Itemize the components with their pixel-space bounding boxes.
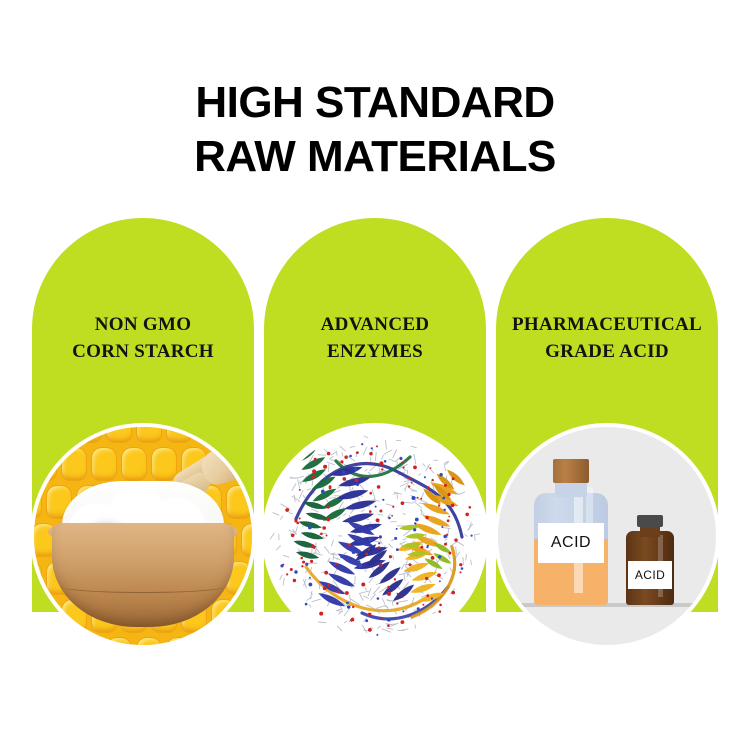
corn-kernel [34, 599, 57, 633]
card-label-advanced-enzymes: ADVANCED ENZYMES [264, 311, 486, 365]
corn-kernel [166, 637, 192, 645]
enzyme-protein-structure-photo [266, 427, 484, 645]
acid-bottles-photo: ACID ACID [498, 427, 716, 645]
corn-kernel [151, 447, 177, 481]
card-non-gmo-corn-starch[interactable]: NON GMO CORN STARCH [32, 218, 254, 612]
corn-starch-bowl-photo [34, 427, 252, 645]
card-label-line-1: NON GMO [32, 311, 254, 338]
corn-kernel [34, 447, 57, 481]
corn-kernel [106, 427, 132, 443]
small-bottle-label: ACID [628, 561, 672, 589]
corn-kernel [121, 447, 147, 481]
card-label-line-2: ENZYMES [264, 338, 486, 365]
corn-kernel [34, 427, 42, 443]
corn-kernel [241, 447, 252, 481]
corn-kernel [46, 427, 72, 443]
card-advanced-enzymes[interactable]: ADVANCED ENZYMES [264, 218, 486, 612]
corn-kernel [136, 427, 162, 443]
card-label-non-gmo-corn-starch: NON GMO CORN STARCH [32, 311, 254, 365]
large-bottle-label: ACID [538, 523, 604, 563]
corn-kernel [34, 561, 42, 595]
card-pharmaceutical-grade-acid[interactable]: PHARMACEUTICAL GRADE ACID ACID [496, 218, 718, 612]
photo-ring [30, 423, 256, 649]
corn-kernel [211, 599, 237, 633]
corn-kernel [91, 447, 117, 481]
corn-kernel [34, 485, 42, 519]
corn-kernel [61, 447, 87, 481]
large-bottle-cork [553, 459, 589, 483]
corn-kernel [226, 485, 252, 519]
card-label-pharmaceutical-grade-acid: PHARMACEUTICAL GRADE ACID [496, 311, 718, 365]
corn-kernel [34, 637, 42, 645]
corn-kernel [166, 427, 192, 443]
corn-kernel [226, 427, 252, 443]
card-label-line-2: GRADE ACID [496, 338, 718, 365]
protein-ribbon-svg [266, 427, 484, 645]
corn-kernel [226, 637, 252, 645]
corn-kernel [46, 637, 72, 645]
material-cards: NON GMO CORN STARCH [0, 0, 750, 740]
corn-kernel [106, 637, 132, 645]
poster-canvas: HIGH STANDARD RAW MATERIALS NON GMO CORN… [0, 0, 750, 740]
protein-ribbon-model [266, 427, 484, 645]
corn-kernel [241, 523, 252, 557]
card-label-line-1: PHARMACEUTICAL [496, 311, 718, 338]
corn-kernel [196, 427, 222, 443]
wooden-bowl-groove [60, 580, 226, 593]
card-label-line-2: CORN STARCH [32, 338, 254, 365]
card-label-line-1: ADVANCED [264, 311, 486, 338]
photo-ring: ACID ACID [494, 423, 720, 649]
corn-kernel [76, 427, 102, 443]
corn-kernel [196, 637, 222, 645]
corn-kernel [136, 637, 162, 645]
small-bottle-cap [637, 515, 663, 527]
photo-ring [262, 423, 488, 649]
corn-kernel [76, 637, 102, 645]
corn-kernel [241, 599, 252, 633]
